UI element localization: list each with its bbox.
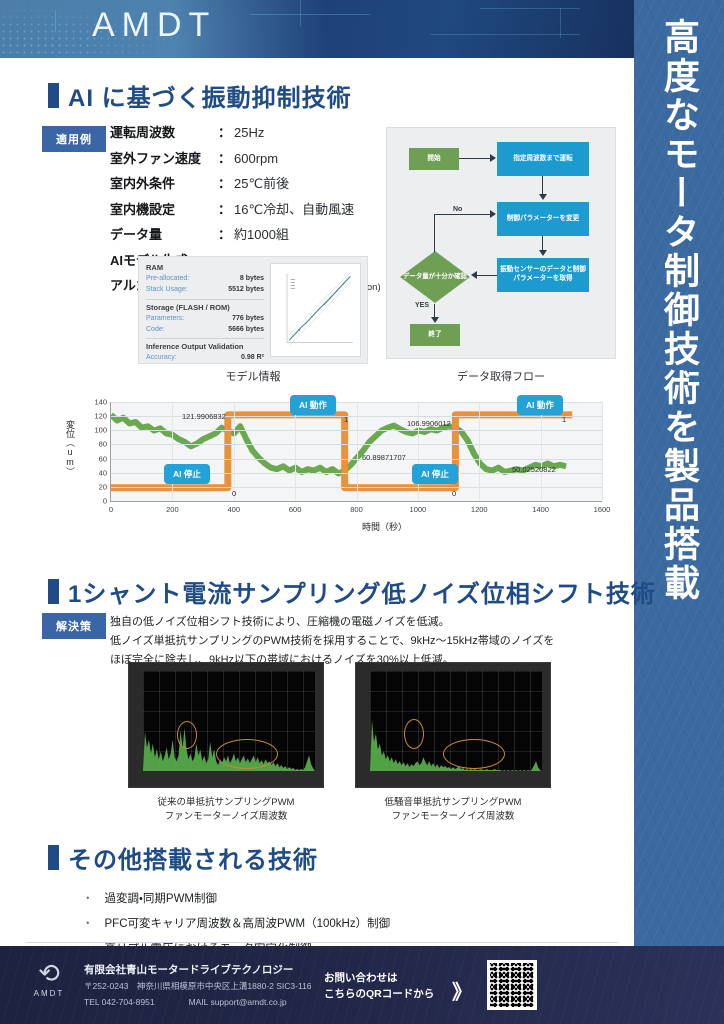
flow-connector xyxy=(477,275,497,276)
heading-bullet-icon xyxy=(48,579,59,604)
model-stat-row: Pre-allocated: 8 bytes xyxy=(146,274,264,285)
qr-prompt-line: こちらのQRコードから xyxy=(324,986,434,1002)
chart-gridline-vertical xyxy=(602,402,603,501)
spec-colon: ： xyxy=(218,173,231,192)
qr-code[interactable] xyxy=(487,960,537,1010)
spec-value: 600rpm xyxy=(234,151,278,166)
chart-y-tick: 100 xyxy=(94,426,107,435)
flow-arrow-icon xyxy=(490,154,496,162)
amdt-swirl-icon: ⟲ xyxy=(26,960,72,986)
footer-divider xyxy=(26,942,618,943)
chevron-right-icon: 》 xyxy=(452,976,468,1005)
chart-state-value: 1 xyxy=(344,415,348,424)
solution-line: 低ノイズ単抵抗サンプリングのPWM技術を採用することで、9kHz〜15kHz帯域… xyxy=(110,632,554,651)
heading-bullet-icon xyxy=(48,83,59,108)
scatter-plot-icon xyxy=(271,264,360,356)
chart-y-axis-title: 変位（um） xyxy=(64,420,77,476)
model-stat-value: 5666 bytes xyxy=(228,325,264,336)
flow-connector xyxy=(542,236,543,250)
flow-node-run: 指定周波数まで運転 xyxy=(497,142,589,176)
spectrum-caption-lownoise: 低騒音単抵抗サンプリングPWM ファンモーターノイズ周波数 xyxy=(345,796,561,825)
spectrum-screen xyxy=(370,671,542,771)
chart-y-tick: 80 xyxy=(99,440,107,449)
heading-bullet-icon xyxy=(48,845,59,870)
spec-row: 室外ファン速度 ： 600rpm xyxy=(110,148,381,167)
flow-arrow-icon xyxy=(539,194,547,200)
list-item-label: 過変調・同期PWM制御 xyxy=(105,890,218,906)
model-stat-row: Code: 5666 bytes xyxy=(146,325,264,336)
chart-gridline-vertical xyxy=(357,402,358,501)
section-title-text: その他搭載される技術 xyxy=(68,840,318,875)
list-item: ・ 過変調・同期PWM制御 xyxy=(82,890,390,906)
model-stat-label: Accuracy: xyxy=(146,353,177,364)
chart-state-chip-ai-run: AI 動作 xyxy=(517,395,563,415)
flow-node-acquire-data: 振動センサーのデータと制御パラメーターを取得 xyxy=(497,258,589,292)
model-group-title: Inference Output Validation xyxy=(146,342,264,351)
chart-gridline-vertical xyxy=(479,402,480,501)
spec-value: 25Hz xyxy=(234,125,264,140)
model-group-title: Storage (FLASH / ROM) xyxy=(146,303,264,312)
flow-node-start: 開始 xyxy=(409,148,459,170)
brand-logo-text: AMDT xyxy=(92,6,216,45)
model-info-stats: RAM Pre-allocated: 8 bytes Stack Usage: … xyxy=(146,263,264,357)
footer-company-name: 有限会社青山モータードライブテクノロジー xyxy=(84,962,293,977)
flow-connector xyxy=(459,158,491,159)
caption-line: ファンモーターノイズ周波数 xyxy=(118,810,334,824)
chart-state-value: 0 xyxy=(452,489,456,498)
model-group-title: RAM xyxy=(146,263,264,272)
section-heading-other: その他搭載される技術 xyxy=(48,840,318,875)
poster-page: AMDT 高度なモータ制御技術を製品搭載 AI に基づく振動抑制技術 適用例 運… xyxy=(0,0,724,1024)
tag-application-example: 適用例 xyxy=(42,126,106,152)
flow-node-decision: データ量が十分か確認 xyxy=(400,251,470,303)
chart-x-tick: 600 xyxy=(289,505,302,514)
model-stat-row: Parameters: 776 bytes xyxy=(146,314,264,325)
chart-y-tick: 40 xyxy=(99,468,107,477)
flow-diagram-caption: データ取得フロー xyxy=(386,368,616,384)
divider xyxy=(146,338,264,339)
model-stat-value: 0.98 R² xyxy=(241,353,264,364)
list-item-label: PFC可変キャリア周波数＆高周波PWM（100kHz）制御 xyxy=(105,915,391,931)
caption-line: 従来の単抵抗サンプリングPWM xyxy=(118,796,334,810)
qr-prompt-line: お問い合わせは xyxy=(324,970,434,986)
chart-gridline-vertical xyxy=(295,402,296,501)
spec-value: 16℃冷却、自動風速 xyxy=(234,199,354,218)
tag-solution: 解決策 xyxy=(42,613,106,639)
chart-y-tick: 140 xyxy=(94,398,107,407)
model-stat-row: Accuracy: 0.98 R² xyxy=(146,353,264,364)
vibration-line-chart: 変位（um） 時間（秒） 020406080100120140020040060… xyxy=(62,396,618,546)
chart-x-tick: 800 xyxy=(350,505,363,514)
chart-x-tick: 1600 xyxy=(594,505,611,514)
bullet-dot-icon: ・ xyxy=(82,915,94,931)
highlight-ellipse xyxy=(404,719,424,749)
model-stat-row: Stack Usage: 5512 bytes xyxy=(146,285,264,296)
spec-key-label: 運転周波数 xyxy=(110,122,175,141)
spec-value: 約1000組 xyxy=(234,224,289,243)
spectrum-image-conventional xyxy=(128,662,324,788)
chart-annotation: 50.02520822 xyxy=(512,465,556,474)
qr-code-pattern xyxy=(490,963,534,1007)
model-info-caption: モデル情報 xyxy=(138,368,368,384)
footer-address: 〒252-0243 神奈川県相模原市中央区上溝1880-2 SIC3-116 xyxy=(84,979,312,995)
footer-contact-block: 〒252-0243 神奈川県相模原市中央区上溝1880-2 SIC3-116 T… xyxy=(84,979,312,1010)
model-info-panel: RAM Pre-allocated: 8 bytes Stack Usage: … xyxy=(138,256,368,364)
footer-qr-prompt: お問い合わせは こちらのQRコードから xyxy=(324,970,434,1003)
bullet-dot-icon: ・ xyxy=(82,890,94,906)
page-footer: ⟲ AMDT 有限会社青山モータードライブテクノロジー 〒252-0243 神奈… xyxy=(0,946,724,1024)
spec-key-label: 室内外条件 xyxy=(110,173,175,192)
spec-colon: ： xyxy=(218,224,231,243)
model-stat-label: Parameters: xyxy=(146,314,184,325)
highlight-ellipse xyxy=(177,721,197,749)
spec-key-label: 室内機設定 xyxy=(110,199,175,218)
flow-arrow-icon xyxy=(471,271,477,279)
section-heading-shunt: 1シャント電流サンプリング低ノイズ位相シフト技術 xyxy=(48,574,656,609)
solution-line: 独自の低ノイズ位相シフト技術により、圧縮機の電磁ノイズを低減。 xyxy=(110,613,554,632)
spec-key-label: データ量 xyxy=(110,224,162,243)
spec-colon: ： xyxy=(218,122,231,141)
spectrum-screen xyxy=(143,671,315,771)
section-heading-ai: AI に基づく振動抑制技術 xyxy=(48,78,352,113)
flow-connector xyxy=(434,214,435,252)
list-item: ・ PFC可変キャリア周波数＆高周波PWM（100kHz）制御 xyxy=(82,915,390,931)
highlight-ellipse xyxy=(216,739,278,769)
chart-x-tick: 0 xyxy=(109,505,113,514)
footer-logo-text: AMDT xyxy=(26,989,72,998)
spec-value: 25℃前後 xyxy=(234,173,289,192)
divider xyxy=(146,299,264,300)
side-band: 高度なモータ制御技術を製品搭載 xyxy=(634,0,724,1024)
model-scatter-thumbnail xyxy=(270,263,361,357)
footer-logo: ⟲ AMDT xyxy=(26,960,72,998)
chart-annotation: 106.9906012 xyxy=(407,419,451,428)
chart-annotation: 121.9906832 xyxy=(182,412,226,421)
chart-x-axis-title: 時間（秒） xyxy=(362,520,407,533)
chart-state-chip-ai-stop: AI 停止 xyxy=(164,464,210,484)
spec-row: 室内外条件 ： 25℃前後 xyxy=(110,173,381,192)
spec-row: 運転周波数 ： 25Hz xyxy=(110,122,381,141)
highlight-ellipse xyxy=(443,739,505,769)
spec-colon: ： xyxy=(218,148,231,167)
spec-key-label: 室外ファン速度 xyxy=(110,148,201,167)
flow-label-yes: YES xyxy=(415,302,429,309)
chart-state-value: 0 xyxy=(232,489,236,498)
footer-tel-mail: TEL 042-704-8951 MAIL support@amdt.co.jp xyxy=(84,995,312,1011)
model-stat-value: 776 bytes xyxy=(232,314,264,325)
spectrum-caption-conventional: 従来の単抵抗サンプリングPWM ファンモーターノイズ周波数 xyxy=(118,796,334,825)
chart-x-tick: 200 xyxy=(166,505,179,514)
flow-connector xyxy=(542,176,543,194)
chart-gridline-vertical xyxy=(541,402,542,501)
chart-y-tick: 60 xyxy=(99,454,107,463)
section-title-text: AI に基づく振動抑制技術 xyxy=(68,78,352,113)
flow-node-change-params: 制御パラメーターを変更 xyxy=(497,202,589,236)
caption-line: ファンモーターノイズ周波数 xyxy=(345,810,561,824)
chart-gridline-vertical xyxy=(418,402,419,501)
spectrum-image-lownoise xyxy=(355,662,551,788)
chart-state-value: 1 xyxy=(562,415,566,424)
chart-y-tick: 0 xyxy=(103,497,107,506)
flow-arrow-icon xyxy=(539,250,547,256)
chart-x-tick: 1400 xyxy=(532,505,549,514)
chart-y-tick: 20 xyxy=(99,482,107,491)
flow-label-no: No xyxy=(453,206,462,213)
chart-x-tick: 400 xyxy=(227,505,240,514)
flow-arrow-icon xyxy=(490,210,496,218)
model-stat-label: Code: xyxy=(146,325,165,336)
page-header: AMDT xyxy=(0,0,634,58)
chart-x-tick: 1000 xyxy=(410,505,427,514)
chart-x-tick: 1200 xyxy=(471,505,488,514)
chart-y-tick: 120 xyxy=(94,412,107,421)
chart-state-chip-ai-run: AI 動作 xyxy=(290,395,336,415)
flow-diagram-panel: 開始 指定周波数まで運転 制御パラメーターを変更 振動センサーのデータと制御パラ… xyxy=(386,127,616,359)
model-stat-label: Stack Usage: xyxy=(146,285,188,296)
spec-row: データ量 ： 約1000組 xyxy=(110,224,381,243)
model-stat-label: Pre-allocated: xyxy=(146,274,189,285)
flow-connector xyxy=(434,304,435,318)
model-stat-value: 8 bytes xyxy=(240,274,264,285)
caption-line: 低騒音単抵抗サンプリングPWM xyxy=(345,796,561,810)
chart-gridline-vertical xyxy=(234,402,235,501)
chart-gridline-vertical xyxy=(172,402,173,501)
side-band-title: 高度なモータ制御技術を製品搭載 xyxy=(634,18,724,918)
model-stat-value: 5512 bytes xyxy=(228,285,264,296)
flow-node-end: 終了 xyxy=(410,324,460,346)
spec-colon: ： xyxy=(218,199,231,218)
flow-arrow-icon xyxy=(431,317,439,323)
flow-connector xyxy=(434,214,492,215)
spec-row: 室内機設定 ： 16℃冷却、自動風速 xyxy=(110,199,381,218)
chart-state-chip-ai-stop: AI 停止 xyxy=(412,464,458,484)
section-title-text: 1シャント電流サンプリング低ノイズ位相シフト技術 xyxy=(68,574,656,609)
chart-annotation: 60.89871707 xyxy=(362,453,406,462)
